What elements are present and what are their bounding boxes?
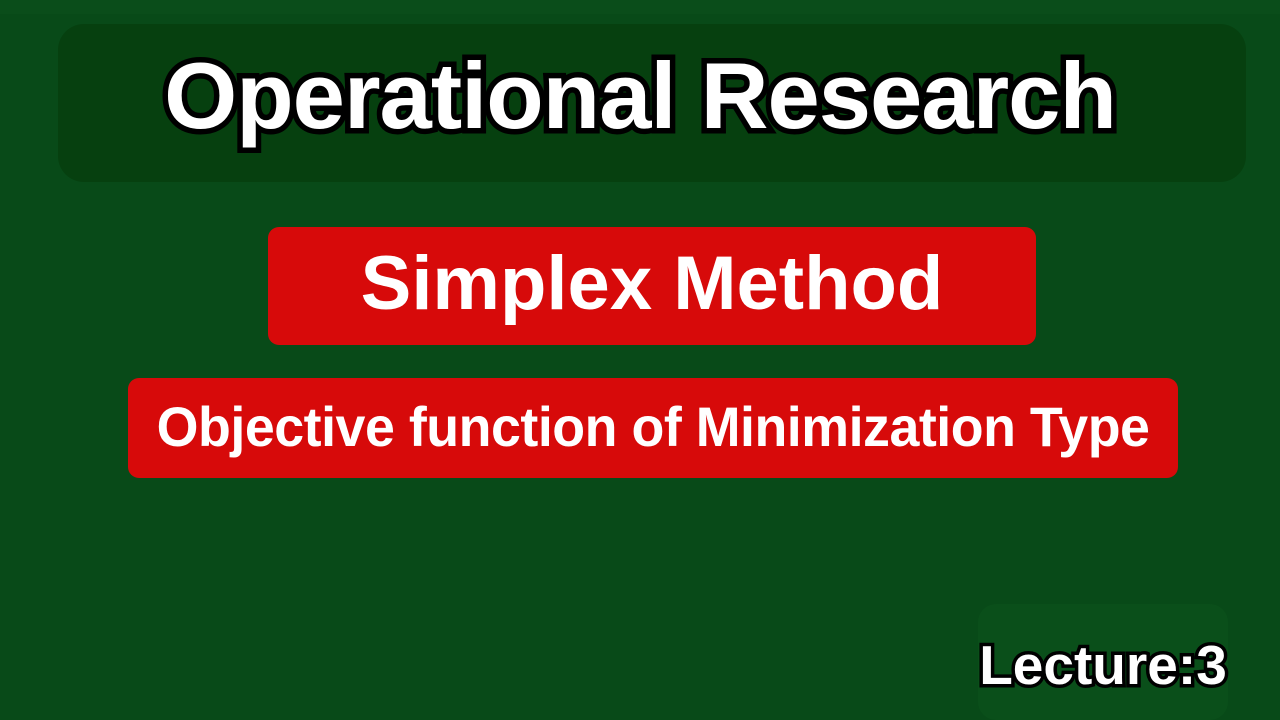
title-slide: Operational Research Simplex Method Obje… — [0, 0, 1280, 720]
banner-objective-function: Objective function of Minimization Type — [128, 378, 1178, 478]
top-edge-band — [0, 0, 1280, 14]
page-title: Operational Research — [0, 44, 1280, 148]
banner-objective-function-label: Objective function of Minimization Type — [157, 399, 1150, 455]
banner-simplex-method: Simplex Method — [268, 227, 1036, 345]
banner-simplex-method-label: Simplex Method — [361, 246, 944, 322]
lecture-badge-label: Lecture:3 — [978, 634, 1228, 696]
